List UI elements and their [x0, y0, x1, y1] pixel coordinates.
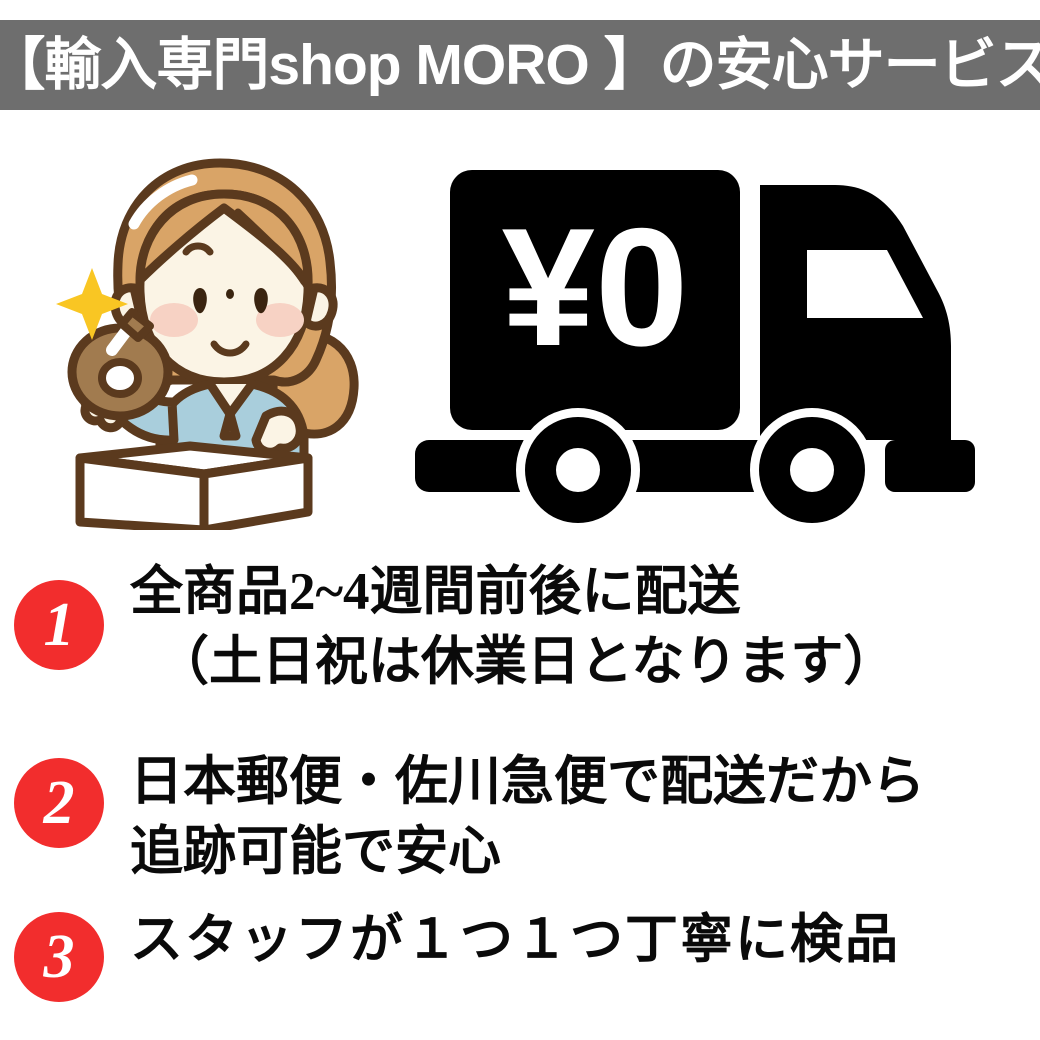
left-cheek: [150, 303, 198, 337]
truck-cargo-price-label: ¥0: [502, 193, 689, 381]
benefit-badge-3: 3: [14, 912, 104, 1002]
illustration-area: ¥0: [0, 120, 1040, 540]
benefit-line-3-1: スタッフが１つ１つ丁寧に検品: [130, 906, 1040, 976]
collar-tie: [224, 414, 236, 436]
nose: [226, 289, 234, 299]
benefit-item-3: 3 スタッフが１つ１つ丁寧に検品: [0, 906, 1040, 1002]
benefit-text-3: スタッフが１つ１つ丁寧に検品: [130, 906, 1040, 976]
benefit-text-2: 日本郵便・佐川急便で配送だから 追跡可能で安心: [130, 748, 1040, 888]
delivery-truck-icon: ¥0: [415, 140, 995, 530]
right-hand: [256, 411, 300, 452]
benefits-list: 1 全商品2~4週間前後に配送 （土日祝は休業日となります） 2 日本郵便・佐川…: [0, 548, 1040, 1040]
benefit-line-2-1: 日本郵便・佐川急便で配送だから: [130, 748, 1040, 818]
benefit-badge-2: 2: [14, 758, 104, 848]
benefit-text-1: 全商品2~4週間前後に配送 （土日祝は休業日となります）: [130, 558, 1040, 698]
magnifying-glass-icon: [72, 312, 168, 416]
rear-wheel-hub: [556, 448, 600, 492]
benefit-badge-1: 1: [14, 580, 104, 670]
header-band: 【輸入専門shop MORO 】の安心サービス: [0, 20, 1040, 110]
front-wheel-hub: [790, 448, 834, 492]
page-title: 【輸入専門shop MORO 】の安心サービス: [0, 37, 1040, 94]
truck-bumper: [885, 440, 975, 492]
benefit-item-1: 1 全商品2~4週間前後に配送 （土日祝は休業日となります）: [0, 558, 1040, 698]
benefit-line-1-1: 全商品2~4週間前後に配送: [130, 558, 1040, 628]
benefit-item-2: 2 日本郵便・佐川急便で配送だから 追跡可能で安心: [0, 748, 1040, 888]
cardboard-box: [80, 446, 308, 530]
benefit-line-2-2: 追跡可能で安心: [130, 818, 1040, 888]
benefit-line-1-2: （土日祝は休業日となります）: [130, 628, 1040, 698]
woman-inspecting-package-illustration: [42, 140, 402, 530]
